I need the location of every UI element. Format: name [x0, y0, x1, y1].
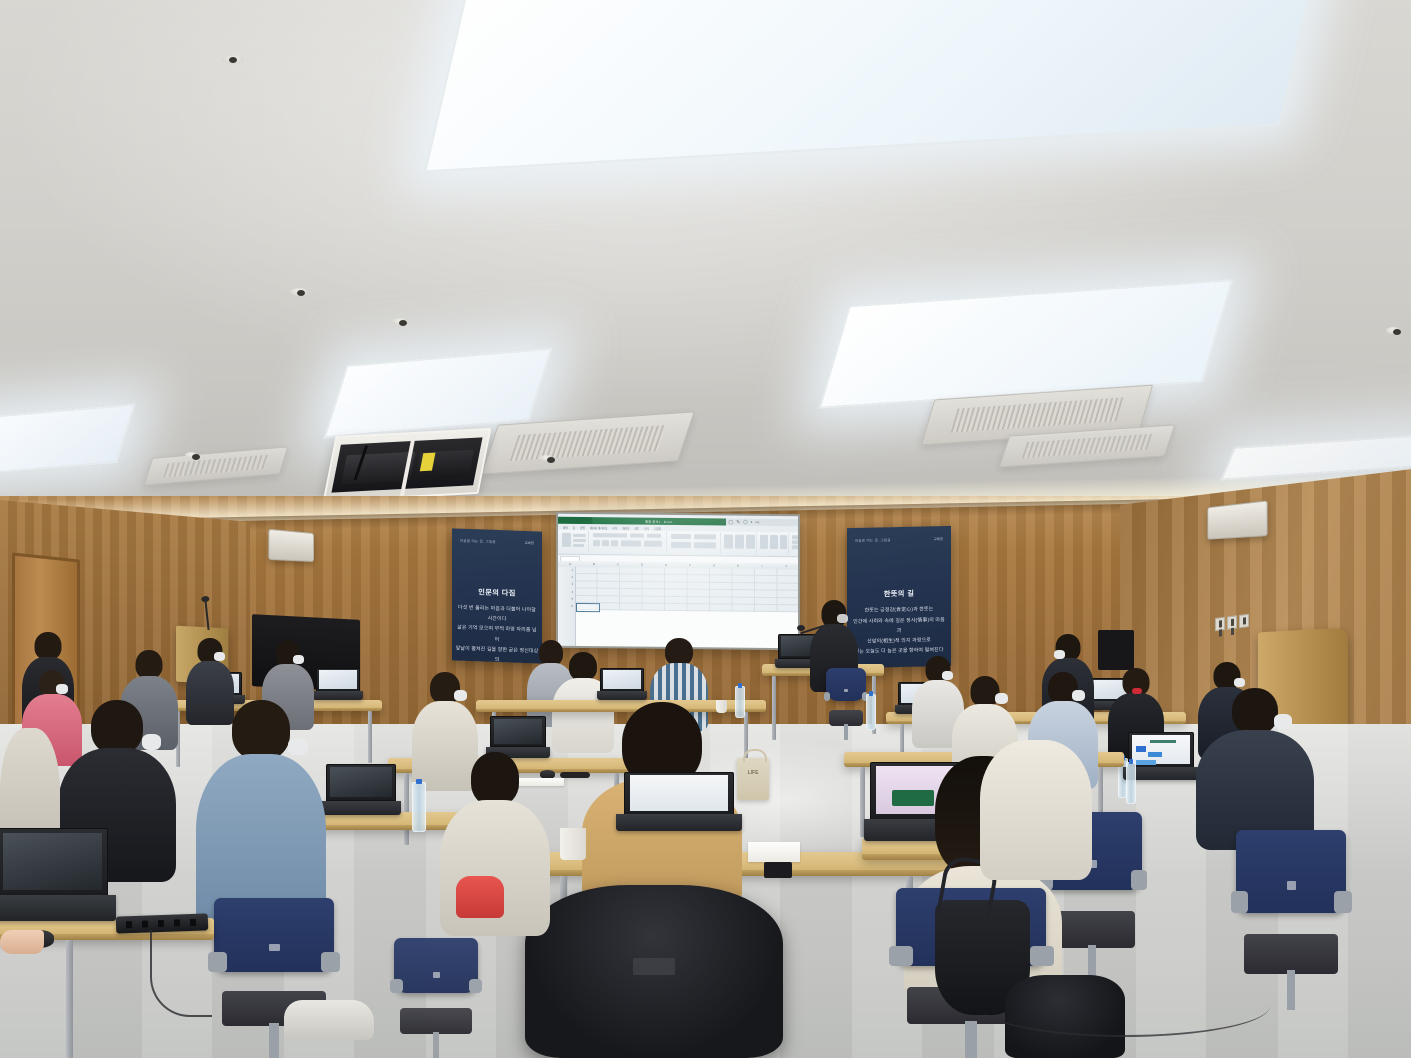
banner-left-line: 앞날이 펼쳐진 길을 향한 굳은 정신대상의: [456, 643, 539, 663]
face-mask: [454, 690, 467, 701]
chart-bar: [1148, 752, 1162, 757]
chair-post: [433, 1032, 440, 1058]
chair-seat: [1244, 934, 1339, 974]
side-monitor: [1098, 630, 1134, 670]
laptop-screen[interactable]: [494, 719, 543, 744]
chair-post: [1287, 970, 1296, 1010]
desk-leg: [772, 676, 776, 740]
banner-right-logo: 교육원: [934, 536, 943, 541]
wall-speaker-right: [1207, 500, 1267, 539]
red-shoe: [456, 876, 504, 918]
laptop-lid: [326, 764, 396, 801]
head: [569, 652, 597, 681]
chart-bar: [1136, 746, 1146, 752]
banner-right-header: 마음을 여는 글, 그림글 교육원: [847, 536, 951, 543]
chair-near-center[interactable]: [394, 938, 478, 1058]
banner-right: 마음을 여는 글, 그림글 교육원 한뜻의 길 한뜻는 긍정감(肯定心)과 한뜻…: [847, 526, 951, 668]
floor-cable: [980, 975, 1270, 1037]
sprinkler-head-icon: [392, 318, 407, 325]
black-jacket-on-chair: [525, 885, 783, 1058]
laptop-foreground-center[interactable]: [624, 772, 734, 830]
sprinkler-head-icon: [290, 288, 308, 296]
banner-left-line: 다섯 번 울리는 마음과 더불어 나아갈 시간이다: [456, 602, 539, 625]
banner-left-header: 마음을 여는 글, 그림글 교육원: [452, 538, 542, 546]
laptop-center-far[interactable]: [600, 668, 644, 700]
banner-right-line: 인간에 사회와 속에 깊은 정사(情事)의 마음과: [851, 615, 947, 638]
torso: [980, 740, 1092, 880]
laptop-screen[interactable]: [3, 833, 102, 890]
laptop-screen[interactable]: [603, 670, 641, 689]
head: [665, 638, 693, 666]
water-bottle[interactable]: [1126, 762, 1136, 804]
chair-seat: [400, 1008, 472, 1034]
face-mask: [1072, 690, 1085, 701]
desk-leg: [66, 940, 73, 1058]
tote-handle: [743, 749, 767, 762]
person-denim-jacket: [196, 700, 326, 930]
chair-back: [826, 668, 866, 701]
head: [35, 632, 62, 660]
banner-left-logo: 교육원: [525, 540, 534, 545]
head: [471, 752, 519, 806]
chair-back: [214, 898, 334, 972]
laptop-keyboard[interactable]: [321, 801, 401, 815]
hand: [0, 930, 44, 954]
head: [136, 650, 163, 679]
laptop-near-left[interactable]: [326, 764, 396, 814]
chair-armrest: [321, 952, 340, 971]
chair-armrest: [889, 946, 913, 966]
face-mask: [995, 693, 1008, 704]
projection-screen: 통합 문서1 - Excel ◯ ▢ ✎ ⬡ • ⇨ 파일 홈 삽입 페이지 레…: [556, 512, 800, 651]
water-bottle[interactable]: [412, 782, 426, 832]
laptop-keyboard[interactable]: [313, 691, 363, 700]
outlet-socket[interactable]: [1239, 614, 1249, 628]
microphone-head-icon: [797, 625, 805, 631]
face-mask: [1054, 650, 1065, 659]
chair-instructor[interactable]: [826, 668, 866, 740]
laptop-lid: [0, 828, 108, 896]
sprinkler-head-icon: [1386, 327, 1400, 334]
laptop-screen[interactable]: [319, 670, 357, 689]
banner-right-eyebrow: 마음을 여는 글, 그림글: [855, 537, 891, 543]
banner-left-eyebrow: 마음을 여는 글, 그림글: [460, 538, 496, 544]
chair-armrest: [1334, 891, 1352, 913]
desk-leg: [368, 711, 372, 763]
water-bottle[interactable]: [866, 694, 876, 730]
outlet-socket[interactable]: [1215, 617, 1225, 631]
notebook[interactable]: [748, 842, 800, 862]
laptop-foreground-left[interactable]: [0, 828, 108, 920]
classroom-photo: 마음을 여는 글, 그림글 교육원 인문의 다짐 다섯 번 울리는 마음과 더불…: [0, 0, 1411, 1058]
head: [232, 700, 290, 760]
banner-right-body: 한뜻는 긍정감(肯定心)과 한뜻는 인간에 사회와 속에 깊은 정사(情事)의 …: [851, 604, 947, 657]
head: [1232, 688, 1278, 734]
laptop-keyboard[interactable]: [597, 691, 647, 700]
face-mask: [214, 652, 225, 661]
chair-post: [269, 1023, 279, 1058]
laptop-screen[interactable]: [630, 775, 727, 810]
laptop-keyboard[interactable]: [0, 895, 116, 921]
projector-glow: [558, 514, 798, 649]
laptop-lid: [624, 772, 734, 815]
chart-line: [1150, 740, 1176, 743]
chair-post: [965, 1021, 977, 1058]
white-sneaker: [284, 1000, 374, 1040]
person-foreground-right-2: [980, 740, 1092, 880]
chair-armrest: [469, 979, 482, 993]
chair-back: [394, 938, 478, 993]
paper-cup[interactable]: [560, 828, 586, 860]
chair-armrest: [1231, 891, 1249, 913]
banner-left-body: 다섯 번 울리는 마음과 더불어 나아갈 시간이다 삶은 기억 모으며 부쩍 마…: [456, 602, 539, 663]
desk-leg: [404, 773, 409, 845]
chair-armrest: [1131, 870, 1147, 890]
outlet-socket[interactable]: [1227, 615, 1237, 629]
chair-armrest: [390, 979, 403, 993]
laptop-far-left-2[interactable]: [316, 668, 360, 700]
banner-left-title: 인문의 다짐: [452, 587, 542, 600]
laptop-screen[interactable]: [330, 767, 391, 797]
smartphone[interactable]: [764, 862, 792, 878]
laptop-lid: [490, 716, 546, 747]
face-mask: [56, 684, 68, 694]
face-mask: [293, 655, 304, 664]
chair-armrest: [1030, 946, 1054, 966]
hair-tie: [1132, 688, 1142, 694]
chair-back: [1236, 830, 1346, 913]
face-mask: [837, 614, 848, 623]
face-mask: [142, 734, 161, 750]
face-mask: [1274, 714, 1292, 729]
banner-right-title: 한뜻의 길: [847, 588, 951, 600]
chart-bar: [1136, 760, 1156, 765]
face-mask: [1234, 678, 1245, 687]
chair-post: [844, 724, 847, 740]
wall-speaker-left: [268, 529, 314, 562]
banner-left-line: 삶은 기억 모으며 부쩍 마땅 자리를 넘어: [456, 623, 539, 646]
laptop-lid: [316, 668, 360, 692]
laptop-keyboard[interactable]: [616, 814, 741, 830]
sprinkler-head-icon: [540, 455, 552, 461]
head: [91, 700, 143, 754]
person-middle-right-suit: [1196, 688, 1314, 848]
face-mask: [288, 738, 308, 755]
chair-armrest: [824, 692, 830, 701]
projected-excel-window: 통합 문서1 - Excel ◯ ▢ ✎ ⬡ • ⇨ 파일 홈 삽입 페이지 레…: [558, 514, 798, 649]
sprinkler-head-icon: [222, 55, 244, 64]
sprinkler-head-icon: [185, 452, 197, 458]
laptop-lid: [600, 668, 644, 692]
